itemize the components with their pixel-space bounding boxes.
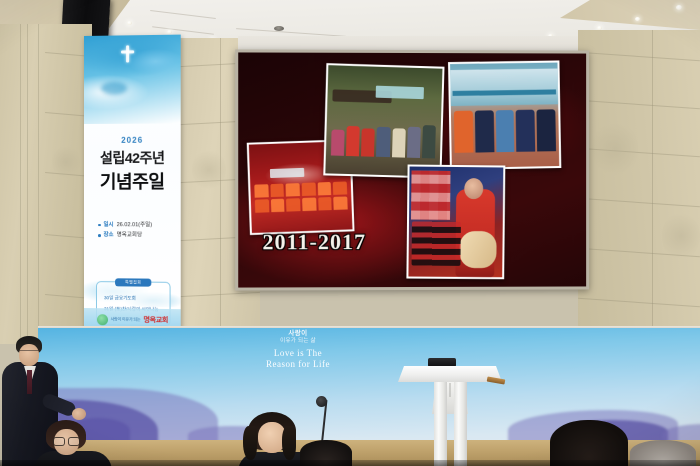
banner-info-key: 일시: [104, 220, 114, 231]
mural-english-line-2: Reason for Life: [233, 359, 363, 370]
wall-left-panel: [0, 24, 92, 344]
banner-year: 2026: [84, 136, 181, 145]
glasses-icon: [19, 350, 39, 355]
bullet-icon: [98, 234, 101, 237]
person-hair-side: [243, 426, 257, 460]
microphone-icon: [316, 396, 327, 407]
banner-info-key: 장소: [104, 231, 114, 242]
ceiling-downlight: [127, 21, 132, 25]
banner-schedule-title: 특별집회: [115, 278, 151, 286]
photo-sign: [270, 167, 305, 177]
wall-right-panel: [578, 30, 700, 342]
pulpit-column: [454, 382, 467, 466]
person-face: [19, 344, 39, 366]
photo-music-stand: [411, 222, 460, 266]
photo-building: [450, 69, 558, 106]
photo-sign: [375, 86, 423, 99]
ceiling-seam: [150, 10, 216, 19]
ceiling-speaker-grille: [274, 26, 284, 31]
cross-icon: [126, 45, 129, 62]
projection-screen-surface: 2011-2017: [238, 52, 586, 287]
mural-text-block: 사랑이 이유가 되는 삶 Love is The Reason for Life: [233, 330, 363, 371]
banner-watercolor-art: [84, 35, 181, 124]
banner-headline-2: 기념주일: [84, 168, 181, 194]
photo-quilt-backdrop: [411, 171, 451, 220]
person-hair-side: [282, 426, 296, 460]
banner-info-row: 일시 26.02.01(주일): [98, 220, 177, 231]
pulpit-column: [434, 382, 447, 466]
mural-korean-line-2: 이유가 되는 삶: [233, 338, 363, 345]
banner-info-value: 명옥교회당: [117, 231, 142, 242]
person-tie: [27, 370, 32, 394]
banner-logo-subtext: 사랑이 이유가 되는: [111, 316, 141, 322]
ceiling-downlight: [676, 5, 682, 10]
sanctuary-photo: 2026 설립42주년 기념주일 일시 26.02.01(주일) 장소 명옥교회…: [0, 0, 700, 466]
church-leaf-logo-icon: [97, 314, 108, 325]
mural-english-line-1: Love is The: [233, 348, 363, 359]
banner-info-value: 26.02.01(주일): [117, 220, 152, 231]
ceiling-downlight: [167, 30, 172, 34]
mural-korean-line-1: 사랑이: [233, 330, 363, 338]
banner-info-row: 장소 명옥교회당: [98, 231, 177, 242]
screen-years-caption: 2011-2017: [262, 229, 366, 255]
pulpit-microphone-icon: [428, 358, 456, 367]
ceiling-downlight: [635, 17, 640, 21]
banner-logo-name: 명옥교회: [143, 315, 167, 325]
photo-bottom-edge: [0, 460, 700, 466]
guitar-icon: [459, 231, 497, 269]
person-hand: [72, 408, 86, 420]
banner-headline-1: 설립42주년: [84, 148, 181, 168]
anniversary-banner: 2026 설립42주년 기념주일 일시 26.02.01(주일) 장소 명옥교회…: [84, 35, 181, 334]
bullet-icon: [98, 224, 101, 227]
banner-info-list: 일시 26.02.01(주일) 장소 명옥교회당: [98, 220, 177, 241]
projection-screen: 2011-2017: [235, 49, 589, 290]
glasses-icon: [53, 437, 80, 444]
banner-schedule-line: 30일 금요기도회: [104, 295, 136, 301]
collage-photo-outdoor-group: [323, 63, 444, 178]
collage-photo-suited-men: [448, 60, 561, 170]
photo-performer-head: [464, 178, 483, 199]
ceiling-seam: [152, 26, 214, 35]
collage-photo-guitarist: [406, 164, 505, 279]
